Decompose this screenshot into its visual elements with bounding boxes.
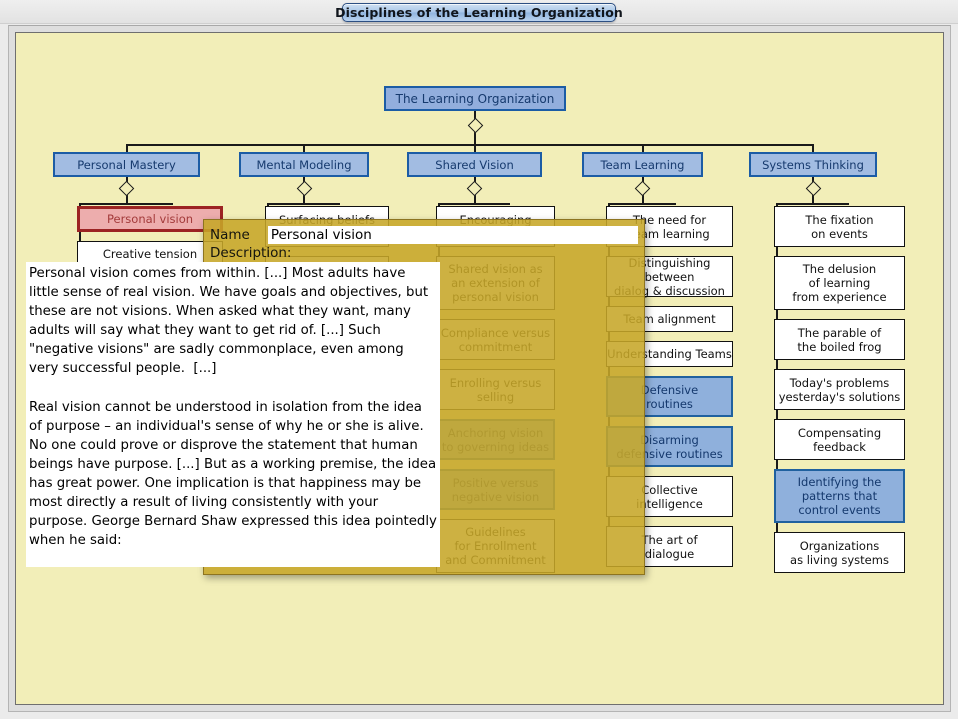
edge-horizontal-bus	[127, 144, 814, 146]
node-item-4-3[interactable]: Today's problems yesterday's solutions	[774, 369, 905, 410]
node-item-4-1[interactable]: The delusion of learning from experience	[774, 256, 905, 310]
dialog-name-row: Name	[210, 225, 638, 244]
node-item-4-6[interactable]: Organizations as living systems	[774, 532, 905, 573]
edge-column-elbow-b-0	[79, 203, 127, 205]
edge-bus-to-discipline-1	[303, 144, 305, 152]
dialog-name-input[interactable]	[268, 226, 638, 244]
edge-column-elbow-1	[303, 203, 340, 205]
window-title: Disciplines of the Learning Organization	[342, 3, 616, 22]
node-learning-organization[interactable]: The Learning Organization	[384, 86, 566, 111]
node-discipline-team-learning[interactable]: Team Learning	[582, 152, 703, 177]
node-item-4-4[interactable]: Compensating feedback	[774, 419, 905, 460]
edge-column-elbow-b-2	[438, 203, 475, 205]
aggregation-diamond-4	[805, 180, 821, 196]
aggregation-diamond-2	[467, 180, 483, 196]
edge-column-elbow-0	[126, 203, 174, 205]
edge-column-elbow-4	[812, 203, 849, 205]
aggregation-diamond-3	[635, 180, 651, 196]
node-item-4-2[interactable]: The parable of the boiled frog	[774, 319, 905, 360]
edge-column-elbow-3	[642, 203, 677, 205]
window-titlebar: Disciplines of the Learning Organization	[0, 0, 958, 24]
edge-bus-to-discipline-0	[126, 144, 128, 152]
node-item-0-0[interactable]: Personal vision	[77, 206, 223, 232]
dialog-description-label: Description:	[210, 245, 638, 261]
aggregation-diamond-0	[119, 180, 135, 196]
node-discipline-systems-thinking[interactable]: Systems Thinking	[749, 152, 877, 177]
aggregation-diamond-root	[467, 117, 483, 133]
node-discipline-shared-vision[interactable]: Shared Vision	[407, 152, 542, 177]
edge-column-elbow-b-3	[608, 203, 643, 205]
node-discipline-personal-mastery[interactable]: Personal Mastery	[53, 152, 200, 177]
dialog-name-label: Name	[210, 227, 250, 243]
dialog-description-textarea[interactable]	[26, 262, 440, 567]
node-item-4-5[interactable]: Identifying the patterns that control ev…	[774, 469, 905, 523]
edge-column-elbow-2	[474, 203, 511, 205]
node-discipline-mental-modeling[interactable]: Mental Modeling	[239, 152, 369, 177]
node-item-4-0[interactable]: The fixation on events	[774, 206, 905, 247]
edge-column-elbow-b-1	[267, 203, 304, 205]
edge-bus-to-discipline-4	[812, 144, 814, 152]
aggregation-diamond-1	[296, 180, 312, 196]
edge-bus-to-discipline-2	[474, 144, 476, 152]
edge-bus-to-discipline-3	[642, 144, 644, 152]
app-window: Disciplines of the Learning Organization…	[0, 0, 958, 719]
edge-column-elbow-b-4	[776, 203, 813, 205]
